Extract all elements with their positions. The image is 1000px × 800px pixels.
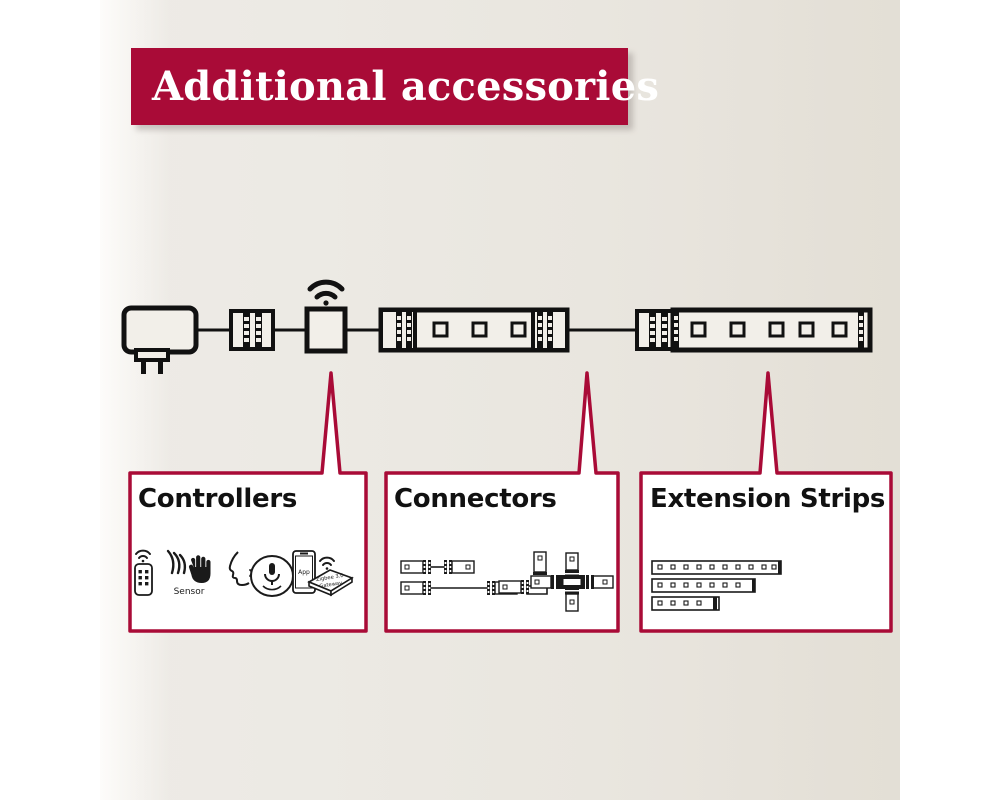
callout-title-extension-strips: Extension Strips <box>650 484 885 514</box>
product-infographic: Additional accessories <box>0 0 1000 800</box>
callout-title-connectors: Connectors <box>394 484 557 514</box>
callout-title-controllers: Controllers <box>138 484 297 514</box>
page-title: Additional accessories <box>131 63 659 110</box>
title-banner: Additional accessories <box>131 48 628 125</box>
